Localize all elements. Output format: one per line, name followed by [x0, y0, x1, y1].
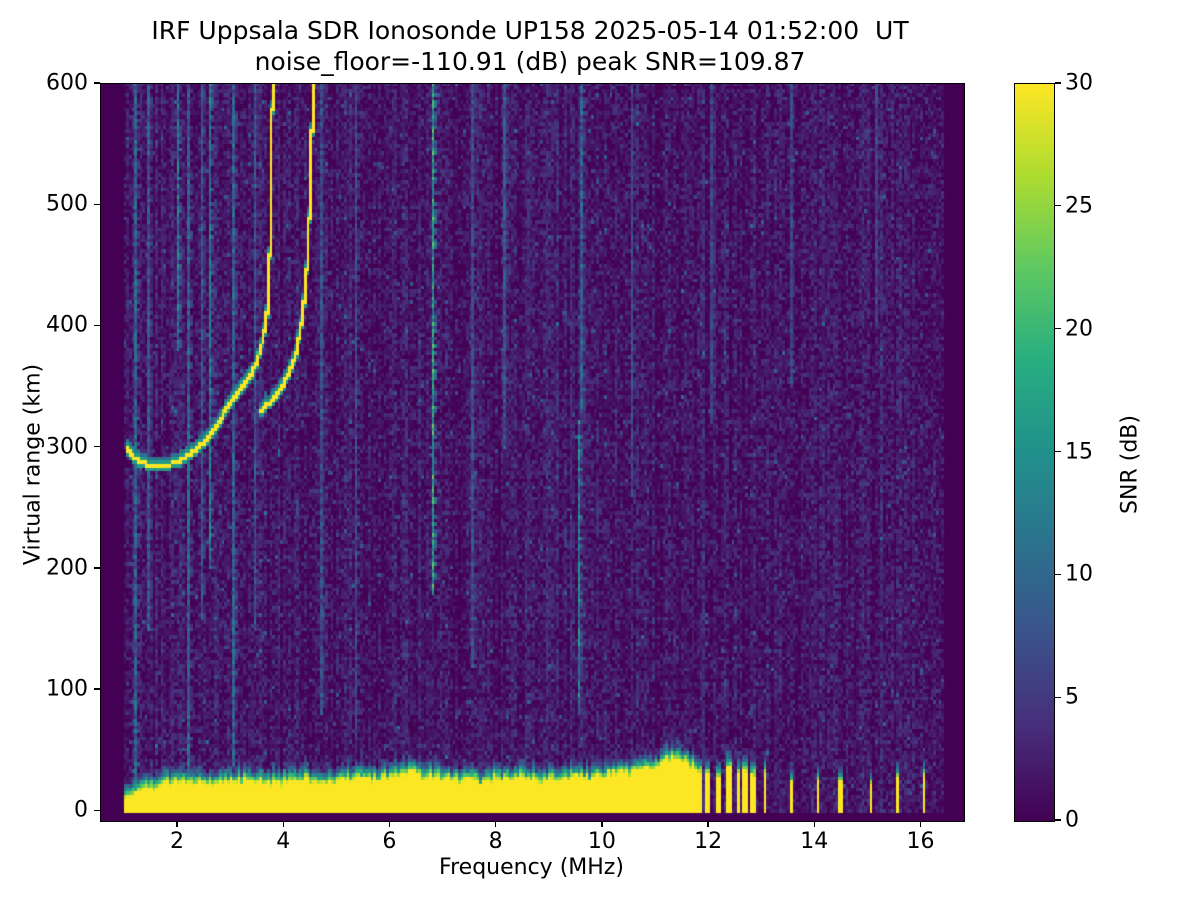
x-tick-label: 16 [907, 829, 935, 854]
x-tick-label: 8 [489, 829, 503, 854]
colorbar-gradient [1015, 84, 1054, 821]
x-tick-label: 10 [588, 829, 616, 854]
colorbar-tick-label: 10 [1065, 562, 1093, 587]
colorbar-tick-label: 25 [1065, 193, 1093, 218]
y-axis-label: Virtual range (km) [21, 265, 46, 665]
colorbar-tick-mark [1055, 697, 1061, 698]
title-line-1: IRF Uppsala SDR Ionosonde UP158 2025-05-… [0, 16, 1060, 47]
y-tick-label: 200 [46, 555, 88, 580]
y-tick-label: 100 [46, 677, 88, 702]
y-tick-label: 0 [74, 798, 88, 823]
x-axis-label: Frequency (MHz) [100, 855, 963, 880]
colorbar-tick-mark [1055, 205, 1061, 206]
title-line-2: noise_floor=-110.91 (dB) peak SNR=109.87 [0, 47, 1060, 78]
y-tick-label: 600 [46, 71, 88, 96]
x-tick-label: 12 [694, 829, 722, 854]
colorbar-tick-mark [1055, 819, 1061, 820]
figure-title: IRF Uppsala SDR Ionosonde UP158 2025-05-… [0, 16, 1060, 77]
y-tick-label: 400 [46, 313, 88, 338]
x-tick-label: 2 [170, 829, 184, 854]
colorbar[interactable] [1014, 83, 1055, 822]
colorbar-tick-label: 20 [1065, 316, 1093, 341]
x-tick-label: 6 [382, 829, 396, 854]
colorbar-tick-label: 0 [1065, 808, 1079, 833]
x-tick-label: 4 [276, 829, 290, 854]
y-tick-label: 500 [46, 192, 88, 217]
colorbar-tick-label: 15 [1065, 439, 1093, 464]
ionogram-heatmap[interactable] [101, 84, 964, 821]
y-tick-label: 300 [46, 434, 88, 459]
colorbar-tick-mark [1055, 451, 1061, 452]
colorbar-tick-mark [1055, 328, 1061, 329]
colorbar-label: SNR (dB) [1118, 265, 1143, 665]
ionogram-figure: IRF Uppsala SDR Ionosonde UP158 2025-05-… [0, 0, 1200, 900]
colorbar-tick-label: 5 [1065, 685, 1079, 710]
x-tick-label: 14 [800, 829, 828, 854]
ionogram-plot-area[interactable] [100, 83, 965, 822]
colorbar-tick-mark [1055, 574, 1061, 575]
colorbar-tick-mark [1055, 82, 1061, 83]
colorbar-tick-label: 30 [1065, 71, 1093, 96]
